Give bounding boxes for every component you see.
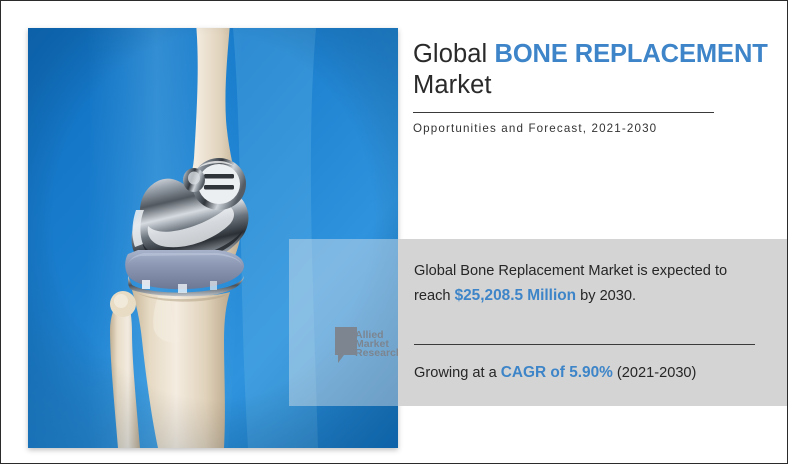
stats-panel-divider bbox=[414, 344, 755, 345]
market-value-statement: Global Bone Replacement Market is expect… bbox=[414, 260, 744, 308]
stats-panel-overlay bbox=[289, 239, 399, 406]
title-highlight: BONE REPLACEMENT bbox=[495, 40, 768, 68]
market-value-highlight: $25,208.5 Million bbox=[455, 287, 576, 304]
banner-page: Allied Market Research Global BONE REPLA… bbox=[0, 0, 788, 464]
cagr-suffix: (2021-2030) bbox=[613, 365, 697, 381]
title-divider bbox=[413, 112, 714, 113]
subtitle: Opportunities and Forecast, 2021-2030 bbox=[413, 122, 657, 135]
title-line-1: Global BONE REPLACEMENT bbox=[413, 39, 758, 70]
cagr-statement: Growing at a CAGR of 5.90% (2021-2030) bbox=[414, 363, 774, 383]
title-prefix: Global bbox=[413, 40, 495, 68]
cagr-highlight: CAGR of 5.90% bbox=[501, 364, 613, 381]
title-line-2: Market bbox=[413, 70, 758, 101]
cagr-prefix: Growing at a bbox=[414, 365, 501, 381]
market-value-suffix: by 2030. bbox=[576, 288, 636, 304]
page-title: Global BONE REPLACEMENT Market bbox=[413, 39, 758, 101]
